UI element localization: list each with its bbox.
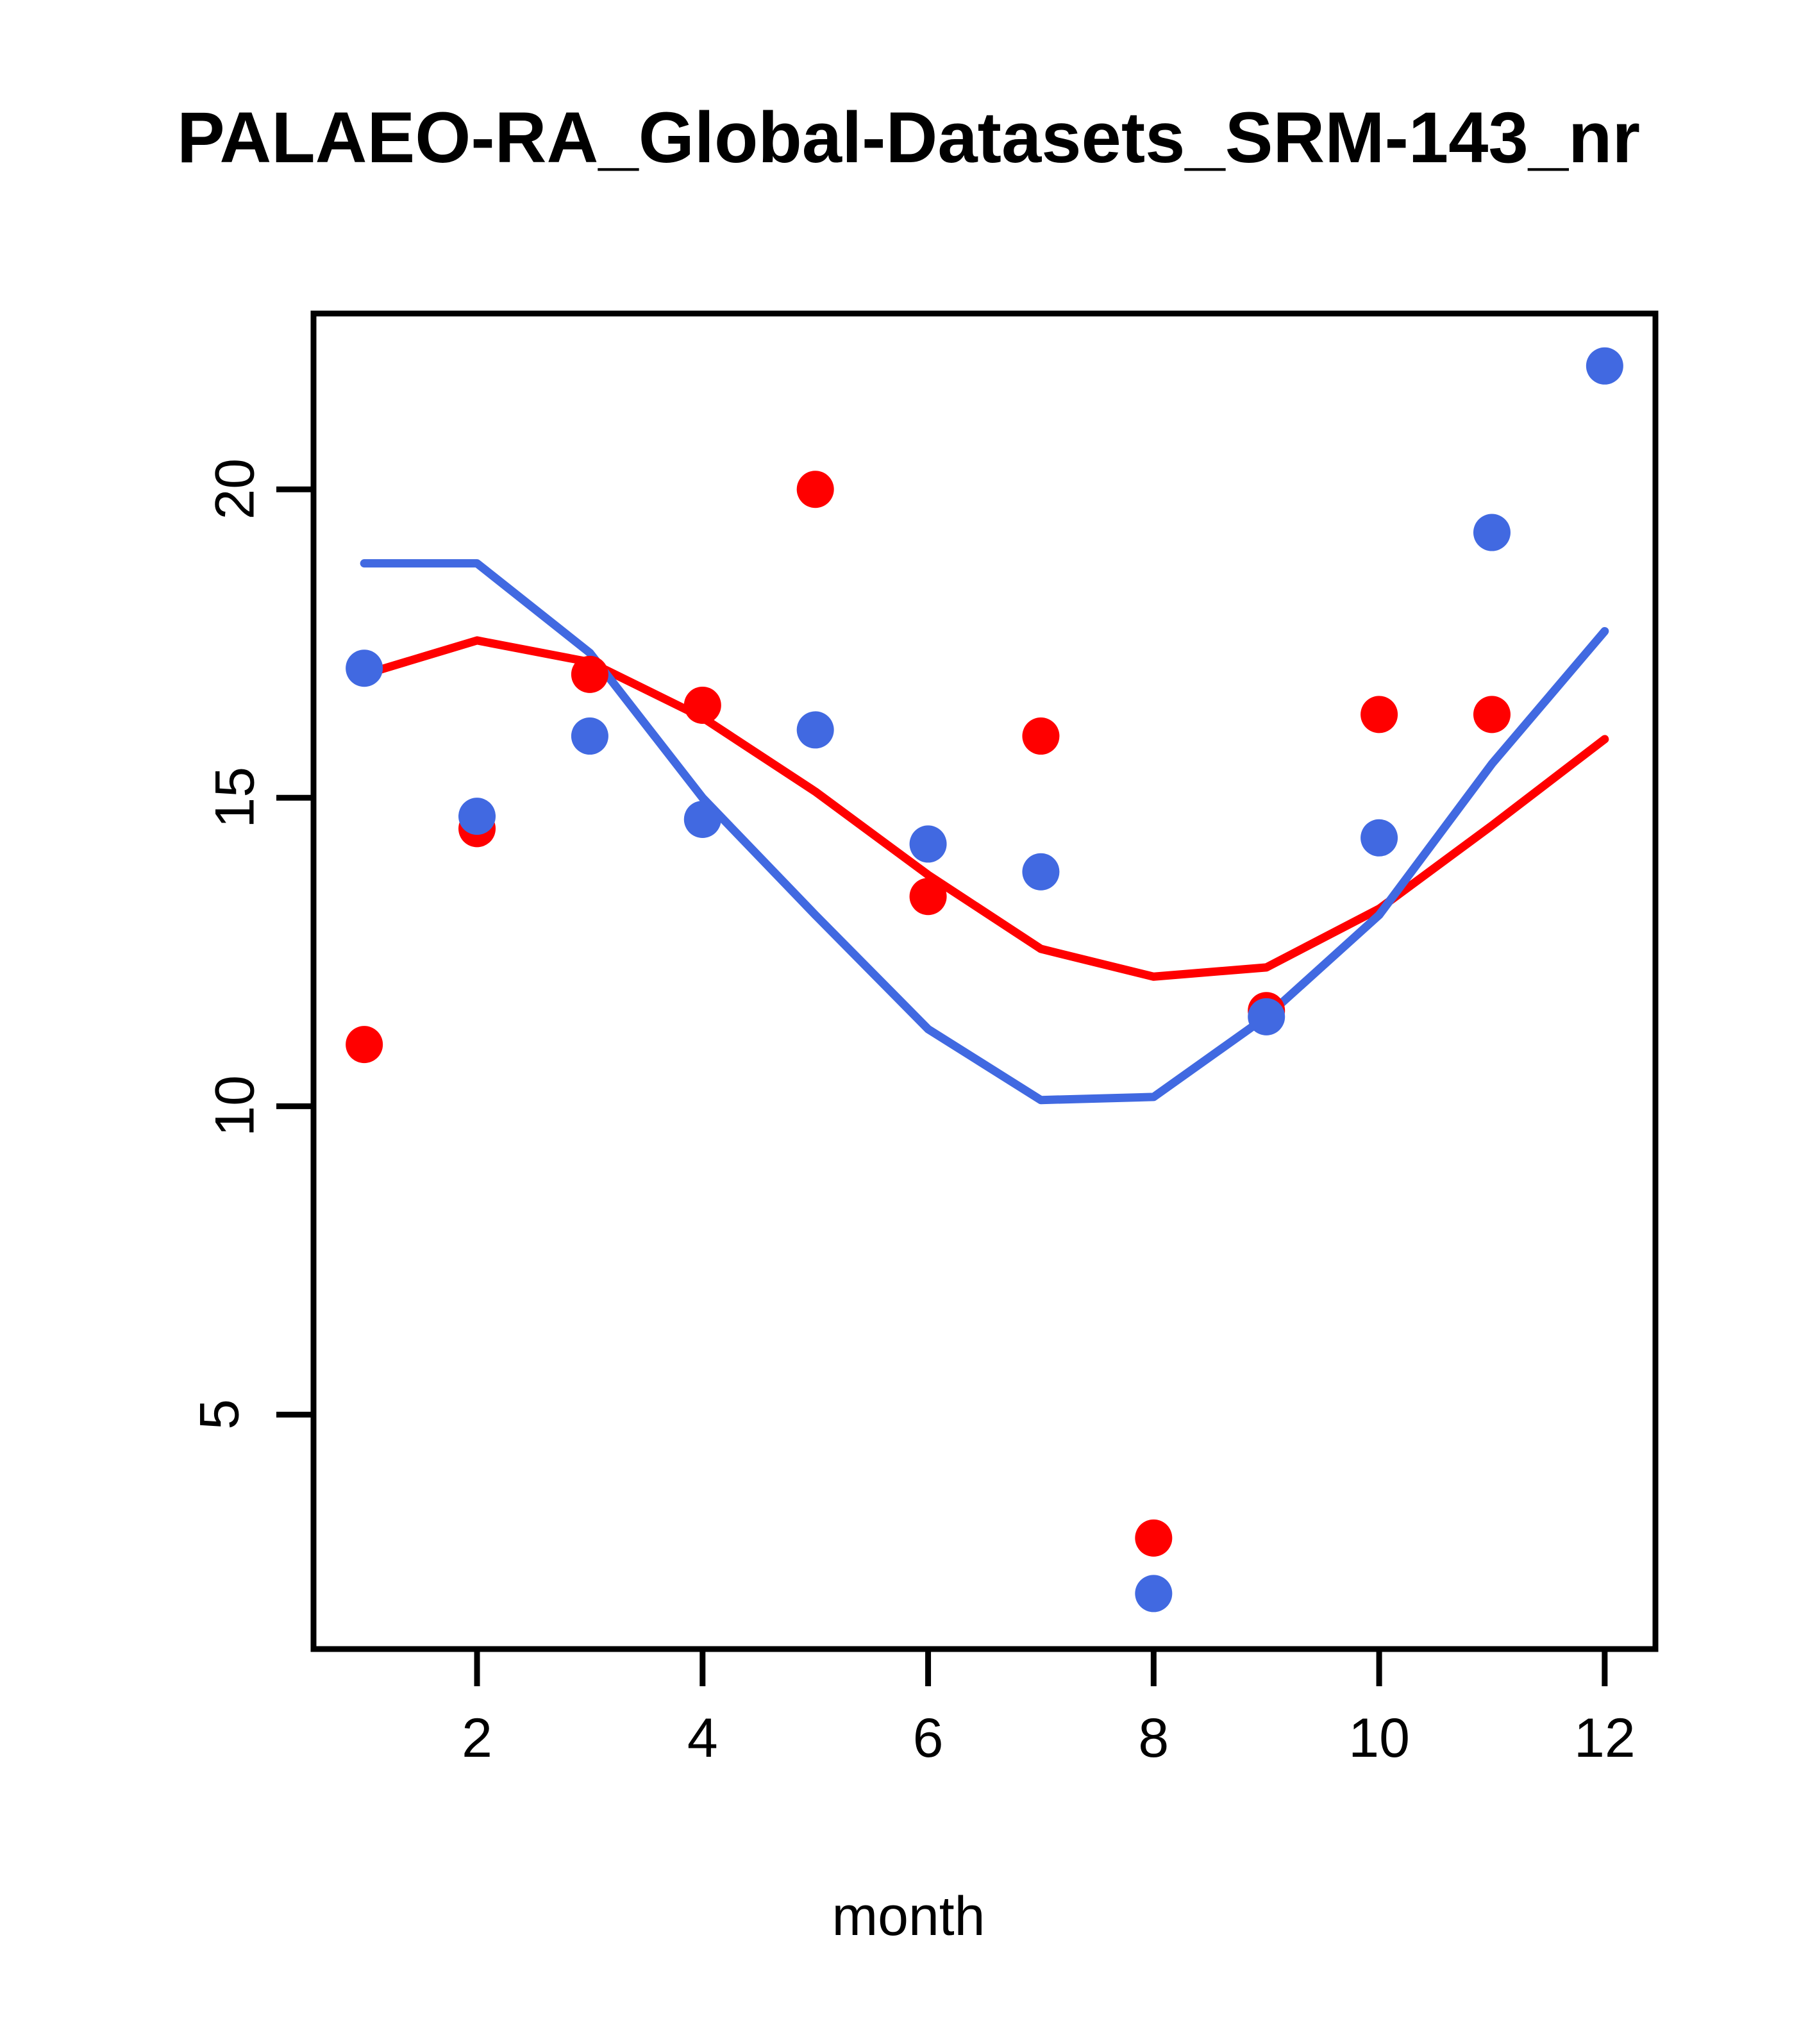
- blue-points-marker: [1473, 514, 1511, 551]
- x-tick-label: 10: [1348, 1707, 1410, 1770]
- red-smooth-line: [364, 641, 1605, 976]
- blue-points-marker: [1022, 853, 1059, 891]
- blue-points-marker: [571, 717, 608, 755]
- red-points-marker: [1361, 696, 1398, 733]
- red-points-marker: [684, 687, 721, 724]
- red-points-marker: [797, 471, 834, 508]
- blue-points-marker: [1586, 348, 1623, 385]
- plot-box: [314, 314, 1655, 1649]
- smooth-lines-group: [364, 564, 1605, 1100]
- blue-points-marker: [797, 711, 834, 748]
- red-points-marker: [1135, 1520, 1172, 1557]
- blue-points-marker: [346, 649, 383, 687]
- red-points-marker: [910, 878, 947, 915]
- x-tick-label: 8: [1138, 1707, 1169, 1770]
- y-tick-label: 10: [203, 1075, 267, 1137]
- scatter-points-group: [346, 348, 1623, 1613]
- x-axis-label: month: [0, 1885, 1817, 1948]
- blue-points-marker: [458, 798, 496, 835]
- red-points-marker: [1022, 717, 1059, 755]
- blue-points-marker: [1248, 998, 1285, 1035]
- x-tick-label: 12: [1574, 1707, 1636, 1770]
- x-tick-label: 6: [913, 1707, 944, 1770]
- red-points-marker: [346, 1026, 383, 1063]
- y-tick-label: 15: [203, 767, 267, 828]
- blue-points-marker: [910, 825, 947, 862]
- blue-smooth-line: [364, 564, 1605, 1100]
- axes-group: [276, 314, 1655, 1686]
- blue-points-marker: [684, 801, 721, 838]
- y-tick-label: 5: [188, 1399, 251, 1430]
- blue-points-marker: [1135, 1575, 1172, 1612]
- x-tick-label: 2: [462, 1707, 492, 1770]
- red-points-marker: [1473, 696, 1511, 733]
- blue-points-marker: [1361, 819, 1398, 857]
- chart-plot-area: PALAEO-RA_Global-Datasets_SRM-143_nr 246…: [0, 0, 1817, 2044]
- x-tick-label: 4: [687, 1707, 718, 1770]
- red-points-marker: [571, 656, 608, 693]
- chart-canvas: [0, 0, 1817, 2044]
- y-tick-label: 20: [203, 458, 267, 520]
